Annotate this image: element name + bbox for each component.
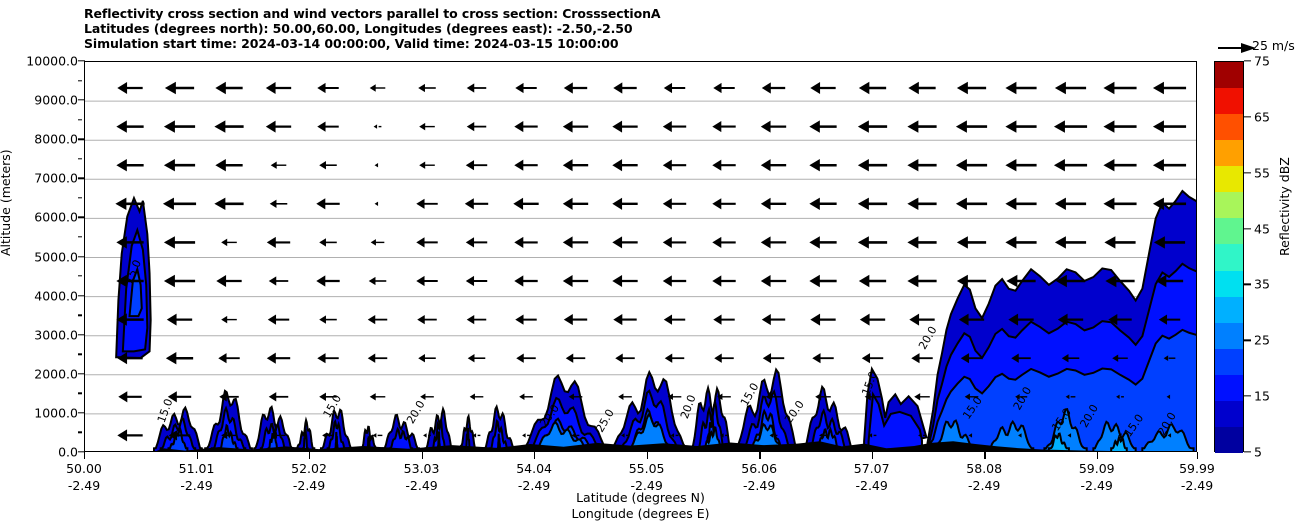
x-tick-mark xyxy=(1197,452,1198,459)
wind-vector xyxy=(1153,82,1186,94)
colorbar-tick xyxy=(1244,395,1251,396)
reference-wind-vector-label: 25 m/s xyxy=(1252,38,1295,53)
wind-vector xyxy=(375,202,379,206)
wind-vector xyxy=(564,314,587,325)
title-line-2: Latitudes (degrees north): 50.00,60.00, … xyxy=(84,21,1184,36)
contour-label: 25.0 xyxy=(593,407,617,435)
wind-vector xyxy=(371,239,385,246)
contour-label: 20.0 xyxy=(916,324,940,352)
wind-vector xyxy=(665,354,685,363)
wind-vector xyxy=(714,354,734,363)
wind-vector xyxy=(762,82,785,93)
y-tick-label: 3000.0 xyxy=(34,327,78,342)
wind-vector xyxy=(467,315,487,324)
wind-vector xyxy=(163,198,196,210)
colorbar-band xyxy=(1215,297,1243,323)
wind-vector xyxy=(117,82,142,94)
colorbar-tick-label: 65 xyxy=(1254,109,1270,124)
wind-vector xyxy=(618,394,632,401)
wind-vector xyxy=(418,354,436,362)
wind-vector xyxy=(368,315,388,324)
wind-vector xyxy=(221,239,237,246)
x-tick-lat: 55.05 xyxy=(629,461,665,476)
wind-vector xyxy=(419,123,435,130)
wind-vector xyxy=(612,198,637,210)
wind-vector xyxy=(859,82,886,94)
x-tick-mark xyxy=(309,452,310,459)
wind-vector xyxy=(1103,198,1136,210)
y-tick-label: 10000.0 xyxy=(26,54,78,69)
wind-vector xyxy=(370,393,386,400)
x-tick-label: 55.05-2.49 xyxy=(629,460,665,494)
wind-vector xyxy=(167,314,192,326)
wind-vector xyxy=(956,120,987,132)
colorbar-band xyxy=(1215,62,1243,88)
y-tick-minor xyxy=(78,158,82,159)
colorbar-band xyxy=(1215,192,1243,218)
wind-vector xyxy=(761,198,786,210)
y-tick-minor xyxy=(78,354,82,355)
colorbar-tick-label: 35 xyxy=(1254,277,1270,292)
wind-vector xyxy=(118,391,141,402)
wind-vector xyxy=(712,198,735,209)
wind-vector xyxy=(267,353,290,364)
x-tick-mark xyxy=(984,452,985,459)
wind-vector xyxy=(563,198,588,210)
x-tick-label: 59.09-2.49 xyxy=(1079,460,1115,494)
y-tick-minor xyxy=(78,119,82,120)
y-tick-label: 1000.0 xyxy=(34,405,78,420)
wind-vector xyxy=(1005,159,1036,171)
reflectivity-field xyxy=(116,191,1197,452)
wind-vector xyxy=(612,236,637,248)
colorbar-tick-label: 45 xyxy=(1254,221,1270,236)
wind-vector xyxy=(712,121,735,132)
wind-vector xyxy=(613,314,636,325)
wind-vector xyxy=(164,159,195,171)
x-tick-mark xyxy=(647,452,648,459)
wind-vector xyxy=(420,394,434,401)
wind-vector xyxy=(116,159,143,171)
contour-label: 20.0 xyxy=(782,398,807,426)
wind-vector xyxy=(809,120,836,132)
wind-vector xyxy=(267,237,290,248)
wind-vector xyxy=(1005,82,1036,94)
colorbar-tick-label: 15 xyxy=(1254,389,1270,404)
wind-vector xyxy=(116,120,143,132)
wind-vector xyxy=(1055,236,1086,248)
x-tick-lat: 54.04 xyxy=(516,461,552,476)
colorbar-band xyxy=(1215,88,1243,114)
wind-vector xyxy=(215,159,242,171)
wind-vector xyxy=(762,314,785,325)
wind-vector xyxy=(514,275,537,286)
wind-vector xyxy=(612,121,637,133)
x-tick-label: 51.01-2.49 xyxy=(179,460,215,494)
wind-vector xyxy=(418,84,436,92)
wind-vector xyxy=(563,236,588,248)
x-tick-lat: 52.02 xyxy=(291,461,327,476)
wind-vector xyxy=(663,198,686,209)
y-tick-label: 0.0 xyxy=(58,445,78,460)
y-tick-minor xyxy=(78,80,82,81)
wind-vector xyxy=(956,159,987,171)
x-tick-mark xyxy=(1097,452,1098,459)
wind-vector xyxy=(466,237,487,247)
x-tick-label: 52.02-2.49 xyxy=(291,460,327,494)
wind-vector xyxy=(470,394,484,401)
wind-vector xyxy=(957,82,986,94)
wind-vector xyxy=(214,198,243,210)
colorbar-tick-label: 5 xyxy=(1254,445,1262,460)
wind-vector xyxy=(117,429,142,441)
colorbar-band xyxy=(1215,114,1243,140)
wind-vector xyxy=(164,120,195,132)
wind-vector xyxy=(956,198,987,210)
x-tick-lat: 50.00 xyxy=(66,461,102,476)
wind-vector xyxy=(858,198,887,210)
wind-vector xyxy=(563,159,588,171)
wind-vector xyxy=(713,83,734,93)
wind-vector xyxy=(375,163,379,167)
wind-vector xyxy=(269,392,289,401)
wind-vector xyxy=(416,276,437,286)
colorbar-tick xyxy=(1244,451,1251,452)
wind-vector xyxy=(467,83,487,92)
x-tick-label: 56.06-2.49 xyxy=(741,460,777,494)
wind-vector xyxy=(761,159,786,171)
wind-vector xyxy=(1054,159,1087,171)
x-tick-label: 53.03-2.49 xyxy=(404,460,440,494)
figure-title: Reflectivity cross section and wind vect… xyxy=(84,6,1184,52)
title-line-3: Simulation start time: 2024-03-14 00:00:… xyxy=(84,36,1184,51)
y-tick-minor xyxy=(78,314,82,315)
x-tick-mark xyxy=(197,452,198,459)
wind-vector xyxy=(1103,120,1136,132)
wind-vector xyxy=(957,275,986,287)
wind-vector xyxy=(712,160,735,171)
wind-vector xyxy=(761,236,786,248)
wind-vector xyxy=(522,433,530,437)
colorbar-band xyxy=(1215,375,1243,401)
wind-vector xyxy=(810,82,835,94)
wind-vector xyxy=(908,82,935,94)
wind-vector xyxy=(812,353,833,363)
wind-vector xyxy=(316,198,339,209)
colorbar-band xyxy=(1215,427,1243,453)
wind-vector xyxy=(416,237,437,247)
wind-vector xyxy=(1054,120,1087,132)
x-tick-lat: 53.03 xyxy=(404,461,440,476)
wind-vector xyxy=(809,236,836,248)
x-tick-label: 54.04-2.49 xyxy=(516,460,552,494)
colorbar-tick-label: 75 xyxy=(1254,54,1270,69)
x-tick-lat: 59.09 xyxy=(1079,461,1115,476)
wind-vector xyxy=(810,314,835,326)
wind-vector xyxy=(468,354,486,362)
wind-vector xyxy=(374,124,382,128)
wind-vector xyxy=(907,198,936,210)
x-tick-lat: 58.08 xyxy=(966,461,1002,476)
colorbar-band xyxy=(1215,349,1243,375)
y-tick-minor xyxy=(78,197,82,198)
wind-vector xyxy=(319,315,337,323)
wind-vector xyxy=(216,275,241,287)
colorbar-band xyxy=(1215,140,1243,166)
wind-vector xyxy=(858,120,887,132)
wind-vector xyxy=(563,121,588,133)
wind-vector xyxy=(1103,159,1136,171)
wind-vector xyxy=(266,121,291,133)
y-tick-label: 4000.0 xyxy=(34,288,78,303)
wind-vector xyxy=(663,275,686,286)
wind-vector xyxy=(218,353,239,363)
figure-root: Reflectivity cross section and wind vect… xyxy=(0,0,1304,526)
wind-vector xyxy=(1005,198,1036,210)
wind-vector xyxy=(809,275,836,287)
colorbar-title: Reflectivity dBZ xyxy=(1277,157,1292,256)
wind-vector xyxy=(514,121,537,132)
wind-vector xyxy=(515,314,536,324)
wind-vector xyxy=(907,120,936,132)
wind-vector xyxy=(514,160,537,171)
x-tick-lat: 51.01 xyxy=(179,461,215,476)
colorbar-tick xyxy=(1244,284,1251,285)
y-tick-label: 9000.0 xyxy=(34,93,78,108)
wind-vector xyxy=(1104,236,1135,248)
colorbar-tick xyxy=(1244,340,1251,341)
colorbar-tick xyxy=(1244,60,1251,61)
wind-vector xyxy=(564,82,587,93)
wind-vector xyxy=(1153,120,1186,132)
y-tick-minor xyxy=(78,275,82,276)
wind-vector xyxy=(860,314,885,326)
wind-vector xyxy=(612,275,637,287)
y-tick-minor xyxy=(78,393,82,394)
wind-vector xyxy=(164,236,195,248)
x-tick-label: 58.08-2.49 xyxy=(966,460,1002,494)
y-tick-label: 5000.0 xyxy=(34,249,78,264)
x-tick-mark xyxy=(534,452,535,459)
contour-label: 20.0 xyxy=(404,398,428,426)
x-tick-label: 57.07-2.49 xyxy=(854,460,890,494)
wind-vector xyxy=(914,393,930,400)
wind-vector xyxy=(862,353,883,363)
wind-vector xyxy=(763,353,784,363)
wind-vector xyxy=(712,275,735,286)
wind-vector xyxy=(907,236,936,248)
cross-section-svg: 15.015.015.020.020.025.020.015.020.015.0… xyxy=(85,62,1197,452)
x-tick-mark xyxy=(422,452,423,459)
wind-vector xyxy=(909,314,934,326)
wind-vector xyxy=(1055,82,1086,94)
x-axis-label-2: Longitude (degrees E) xyxy=(84,506,1197,521)
colorbar-band xyxy=(1215,323,1243,349)
wind-vector xyxy=(269,276,289,285)
colorbar-band xyxy=(1215,244,1243,270)
y-tick-minor xyxy=(78,236,82,237)
wind-vector xyxy=(911,353,932,363)
wind-vector xyxy=(713,314,734,324)
y-tick-label: 8000.0 xyxy=(34,132,78,147)
y-tick-label: 6000.0 xyxy=(34,210,78,225)
wind-vector xyxy=(514,237,537,248)
colorbar-tick-label: 55 xyxy=(1254,165,1270,180)
wind-vector xyxy=(515,83,536,93)
wind-vector xyxy=(317,121,338,131)
wind-vector xyxy=(316,275,339,286)
wind-vector xyxy=(615,354,635,363)
wind-vector xyxy=(419,161,435,168)
colorbar-band xyxy=(1215,218,1243,244)
wind-vector xyxy=(266,82,291,94)
wind-vector xyxy=(519,394,533,401)
wind-vector xyxy=(513,198,538,210)
colorbar-tick-label: 25 xyxy=(1254,333,1270,348)
x-tick-label: 50.00-2.49 xyxy=(66,460,102,494)
wind-vector xyxy=(270,200,288,208)
wind-vector xyxy=(1005,236,1036,248)
wind-vector xyxy=(957,236,986,248)
wind-vector xyxy=(761,275,786,287)
colorbar-tick xyxy=(1244,228,1251,229)
colorbar-band xyxy=(1215,166,1243,192)
wind-vector xyxy=(416,199,437,209)
x-tick-label: 59.99-2.49 xyxy=(1179,460,1215,494)
wind-vector xyxy=(612,159,637,171)
wind-vector xyxy=(164,275,195,287)
wind-vector xyxy=(317,83,338,93)
wind-vector xyxy=(1055,198,1086,210)
y-axis: 10000.09000.08000.07000.06000.05000.0400… xyxy=(0,61,78,452)
wind-vector xyxy=(712,237,735,248)
wind-vector xyxy=(858,236,887,248)
x-tick-lat: 57.07 xyxy=(854,461,890,476)
wind-vector xyxy=(809,198,836,210)
wind-vector xyxy=(166,352,193,364)
wind-vector xyxy=(663,121,686,132)
y-tick-label: 2000.0 xyxy=(34,366,78,381)
wind-vector xyxy=(466,160,487,170)
colorbar-band xyxy=(1215,401,1243,427)
wind-vector xyxy=(809,159,836,171)
x-axis-label: Latitude (degrees N) xyxy=(84,490,1197,505)
wind-vector xyxy=(466,276,487,286)
wind-vector xyxy=(271,161,287,168)
wind-vector xyxy=(761,121,786,133)
wind-vector xyxy=(563,275,588,287)
wind-vector xyxy=(663,237,686,248)
wind-vector xyxy=(663,160,686,171)
wind-vector xyxy=(369,277,387,285)
wind-vector xyxy=(1005,120,1036,132)
wind-vector xyxy=(613,82,636,93)
wind-vector xyxy=(214,120,243,132)
y-tick-minor xyxy=(78,432,82,433)
wind-vector xyxy=(268,314,289,324)
wind-vector xyxy=(417,315,437,324)
wind-vector xyxy=(215,82,242,94)
colorbar-tick xyxy=(1244,116,1251,117)
colorbar-tick xyxy=(1244,172,1251,173)
wind-vector xyxy=(319,238,337,246)
wind-vector xyxy=(370,84,386,91)
wind-vector xyxy=(317,353,338,363)
wind-vector xyxy=(907,159,936,171)
wind-vector xyxy=(165,82,194,94)
wind-vector xyxy=(907,275,936,287)
x-tick-mark xyxy=(759,452,760,459)
wind-vector xyxy=(319,161,337,169)
x-tick-mark xyxy=(84,452,85,459)
colorbar xyxy=(1214,61,1244,452)
wind-vector xyxy=(368,354,388,363)
wind-vector xyxy=(467,122,487,131)
wind-vector xyxy=(859,275,886,287)
wind-vector xyxy=(221,316,237,323)
wind-vector xyxy=(858,159,887,171)
wind-vector xyxy=(373,433,383,438)
y-axis-label: Altitude (meters) xyxy=(0,149,13,256)
wind-vector xyxy=(465,198,488,209)
x-tick-lat: 56.06 xyxy=(741,461,777,476)
wind-vector xyxy=(516,354,536,363)
wind-vector xyxy=(1153,159,1186,171)
wind-vector xyxy=(664,83,685,93)
y-tick-label: 7000.0 xyxy=(34,171,78,186)
x-tick-lat: 59.99 xyxy=(1179,461,1215,476)
wind-vector xyxy=(566,354,586,363)
wind-vector xyxy=(1103,82,1136,94)
wind-vector xyxy=(664,314,685,324)
plot-area: 15.015.015.020.020.025.020.015.020.015.0… xyxy=(84,61,1197,452)
x-tick-mark xyxy=(872,452,873,459)
title-line-1: Reflectivity cross section and wind vect… xyxy=(84,6,1184,21)
colorbar-band xyxy=(1215,271,1243,297)
